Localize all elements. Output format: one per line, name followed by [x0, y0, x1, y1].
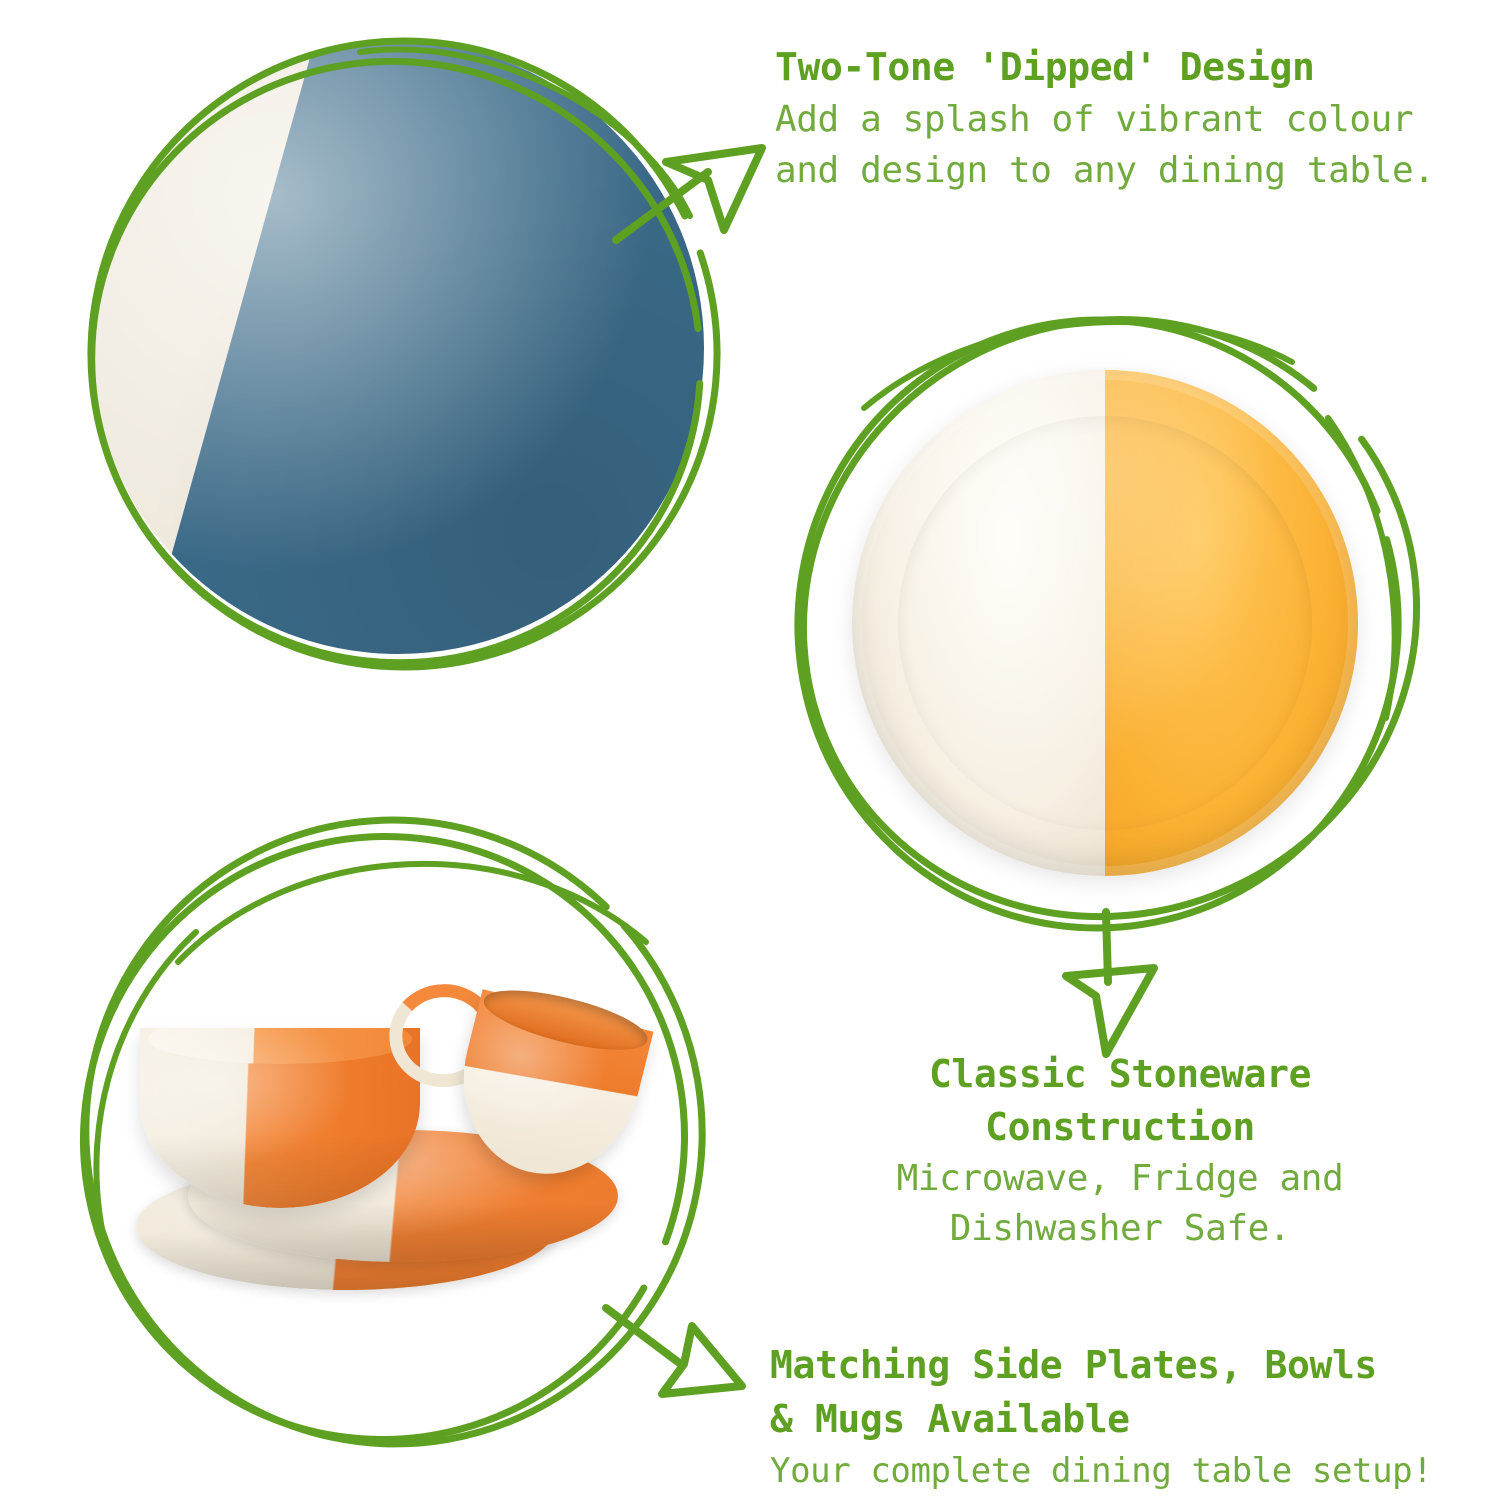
- feature-body-line-2: and design to any dining table.: [775, 145, 1475, 196]
- dinnerware-set: [78, 812, 698, 1432]
- feature-image-two-tone: [92, 42, 704, 654]
- feature-heading-matching-line-1: Matching Side Plates, Bowls: [770, 1338, 1490, 1392]
- feature-heading-two-tone: Two-Tone 'Dipped' Design: [775, 40, 1475, 94]
- feature-text-two-tone: Two-Tone 'Dipped' Design Add a splash of…: [775, 40, 1475, 196]
- feature-image-matching: [78, 812, 698, 1432]
- plate-highlight: [852, 370, 1358, 876]
- arrow-down-icon: [1048, 912, 1178, 1060]
- dipped-plate-macro: [92, 42, 704, 654]
- feature-text-stoneware: Classic Stoneware Construction Microwave…: [760, 1048, 1480, 1254]
- surface-shading: [92, 42, 704, 654]
- product-infographic: Two-Tone 'Dipped' Design Add a splash of…: [0, 0, 1500, 1500]
- feature-body-stoneware-line-2: Dishwasher Safe.: [760, 1204, 1480, 1254]
- feature-body-matching-line-1: Your complete dining table setup!: [770, 1446, 1490, 1496]
- feature-heading-stoneware-line-2: Construction: [760, 1101, 1480, 1154]
- feature-heading-stoneware-line-1: Classic Stoneware: [760, 1048, 1480, 1101]
- feature-body-stoneware-line-1: Microwave, Fridge and: [760, 1154, 1480, 1204]
- feature-body-line-1: Add a splash of vibrant colour: [775, 94, 1475, 145]
- feature-heading-matching-line-2: & Mugs Available: [770, 1392, 1490, 1446]
- feature-text-matching: Matching Side Plates, Bowls & Mugs Avail…: [770, 1338, 1490, 1496]
- yellow-dipped-plate: [852, 370, 1358, 876]
- feature-image-stoneware: [800, 318, 1410, 928]
